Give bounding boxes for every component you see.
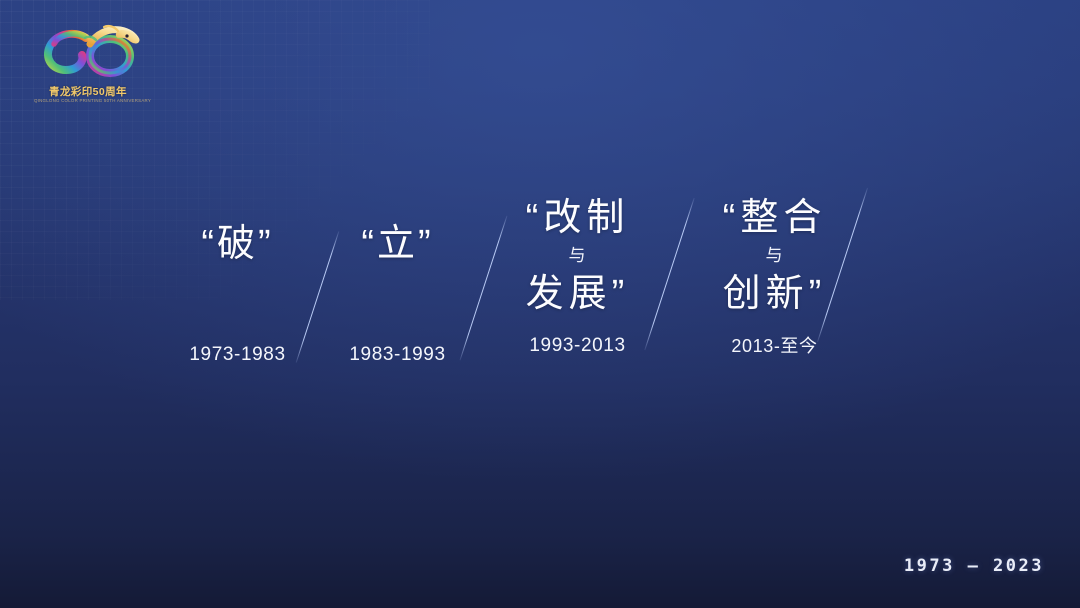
phase-title: “立” [320,220,475,268]
logo-subcaption: QINGLONG COLOR PRINTING 50TH ANNIVERSARY [34,98,142,103]
footer-year-range: 1973 — 2023 [904,556,1044,576]
phase-title-line-2: 创新” [672,270,877,318]
phase-title: “破” [160,220,315,268]
phase-conjunction: 与 [672,244,877,268]
anniversary-timeline-slide: 青龙彩印50周年 QINGLONG COLOR PRINTING 50TH AN… [0,0,1080,608]
phase-title-line-1: “改制 [485,194,670,242]
phase-range: 2013-至今 [672,334,877,358]
phase-po[interactable]: “破” 1973-1983 [160,186,315,367]
phase-zhenghe-chuangxin[interactable]: “整合 与 创新” 2013-至今 [672,186,877,358]
logo-caption: 青龙彩印50周年 [34,84,142,99]
phase-title-line-2: 发展” [485,270,670,318]
phase-range: 1993-2013 [485,334,670,358]
phase-range: 1983-1993 [320,343,475,367]
phase-range: 1973-1983 [160,343,315,367]
anniversary-logo: 青龙彩印50周年 QINGLONG COLOR PRINTING 50TH AN… [34,22,142,110]
phase-gaizhi-fazhan[interactable]: “改制 与 发展” 1993-2013 [485,186,670,358]
phase-conjunction: 与 [485,244,670,268]
phase-title-line-1: “整合 [672,194,877,242]
timeline: “破” 1973-1983 “立” 1983-1993 “改制 与 发展” 19… [0,186,1080,386]
phase-li[interactable]: “立” 1983-1993 [320,186,475,367]
